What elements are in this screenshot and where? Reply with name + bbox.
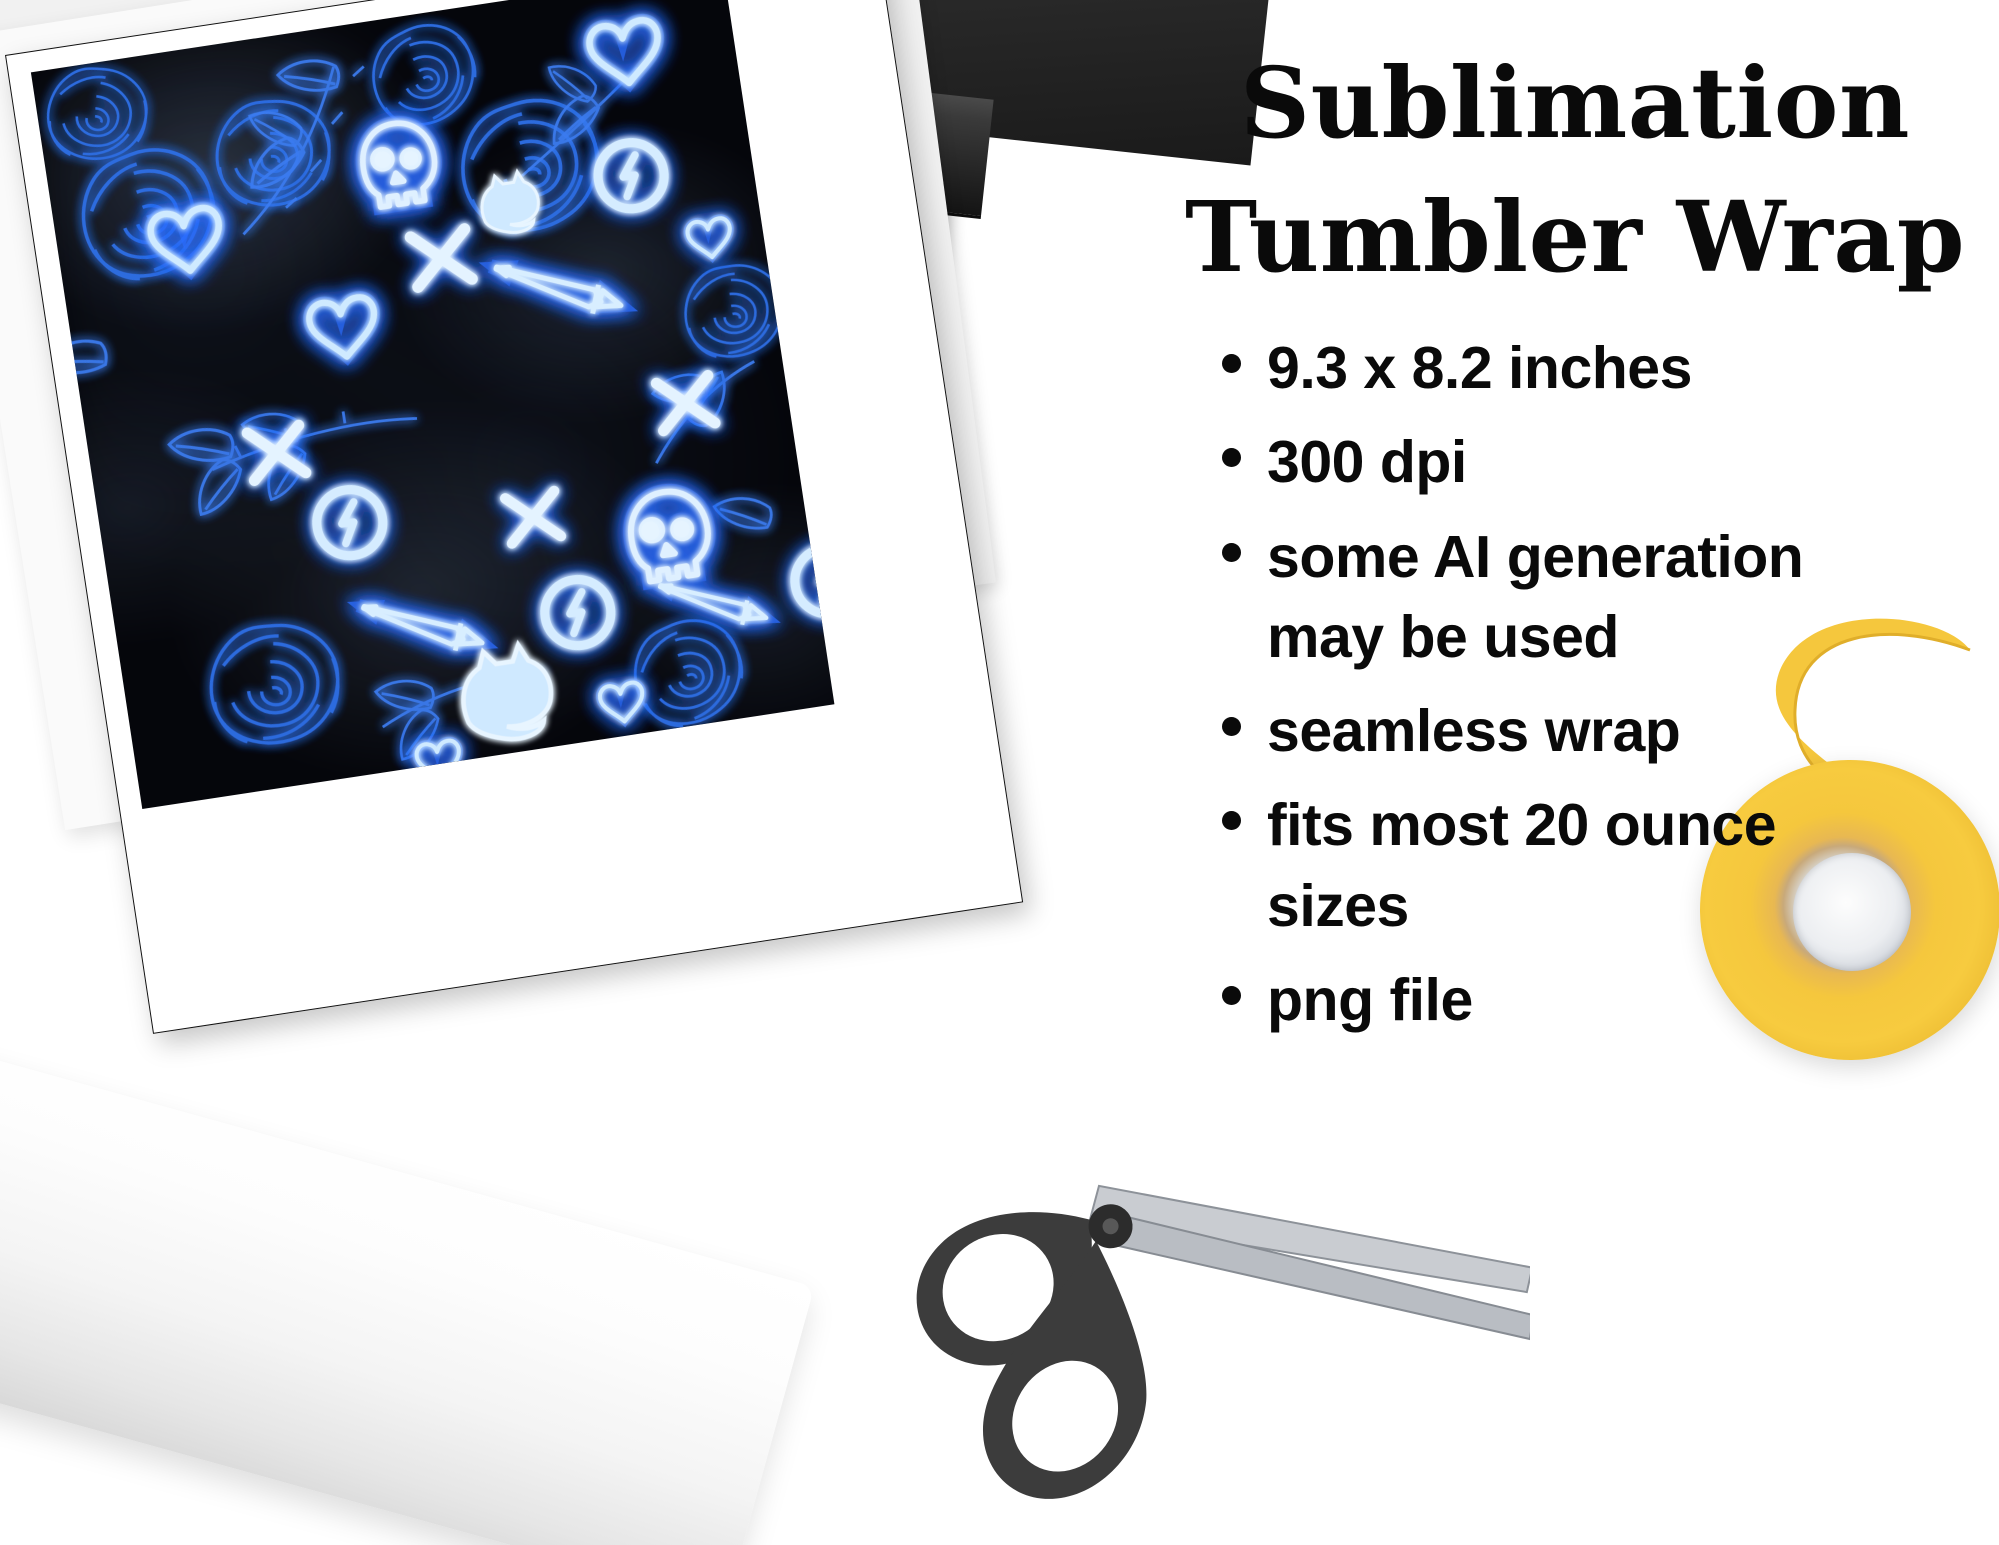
list-item: fits most 20 ounce sizes bbox=[1222, 785, 1980, 945]
blank-tumbler bbox=[0, 1025, 814, 1545]
bullet-dot-icon bbox=[1222, 543, 1241, 562]
list-item: some AI generation may be used bbox=[1222, 517, 1980, 677]
neon-pattern-artwork bbox=[31, 0, 835, 809]
product-info-panel: Sublimation Tumbler Wrap 9.3 x 8.2 inche… bbox=[1150, 40, 1980, 1440]
leaf-motif bbox=[712, 483, 777, 540]
title-line-1: Sublimation bbox=[1170, 40, 1980, 166]
neon-motifs-svg bbox=[31, 0, 835, 809]
product-mockup-canvas: L210 bbox=[0, 0, 1999, 1545]
rose-motif bbox=[358, 11, 489, 138]
lightning-circle-motif bbox=[790, 543, 834, 618]
feature-text: 300 dpi bbox=[1267, 422, 1467, 502]
rose-motif bbox=[42, 61, 153, 166]
page-title: Sublimation Tumbler Wrap bbox=[1150, 40, 1980, 300]
feature-text: fits most 20 ounce sizes bbox=[1267, 785, 1827, 945]
rose-stem bbox=[221, 67, 356, 234]
list-item: png file bbox=[1222, 960, 1980, 1040]
title-line-2: Tumbler Wrap bbox=[1170, 174, 1980, 300]
leaf-motif bbox=[183, 454, 250, 517]
bullet-dot-icon bbox=[1222, 717, 1241, 736]
feature-text: seamless wrap bbox=[1267, 691, 1680, 771]
cat-motif bbox=[477, 169, 542, 237]
list-item: 300 dpi bbox=[1222, 422, 1980, 502]
list-item: seamless wrap bbox=[1222, 691, 1980, 771]
bullet-dot-icon bbox=[1222, 448, 1241, 467]
rose-stem bbox=[209, 415, 420, 469]
lightning-circle-motif bbox=[540, 575, 615, 650]
x-cross-motif bbox=[411, 229, 473, 287]
x-cross-motif bbox=[505, 491, 561, 543]
bullet-dot-icon bbox=[1222, 354, 1241, 373]
x-cross-motif bbox=[656, 376, 715, 431]
rose-motif bbox=[683, 263, 784, 358]
feature-list: 9.3 x 8.2 inches 300 dpi some AI generat… bbox=[1150, 328, 1980, 1040]
feature-text: some AI generation may be used bbox=[1267, 517, 1827, 677]
bullet-dot-icon bbox=[1222, 811, 1241, 830]
feature-text: 9.3 x 8.2 inches bbox=[1267, 328, 1692, 408]
leaf-motif bbox=[42, 333, 109, 380]
feature-text: png file bbox=[1267, 960, 1473, 1040]
leaf-motif bbox=[276, 48, 343, 101]
rose-motif bbox=[210, 624, 339, 745]
lightning-circle-motif bbox=[312, 485, 387, 560]
bullet-dot-icon bbox=[1222, 986, 1241, 1005]
lightning-circle-motif bbox=[594, 138, 669, 213]
cat-motif bbox=[456, 641, 557, 746]
rose-motif bbox=[621, 608, 754, 737]
list-item: 9.3 x 8.2 inches bbox=[1222, 328, 1980, 408]
